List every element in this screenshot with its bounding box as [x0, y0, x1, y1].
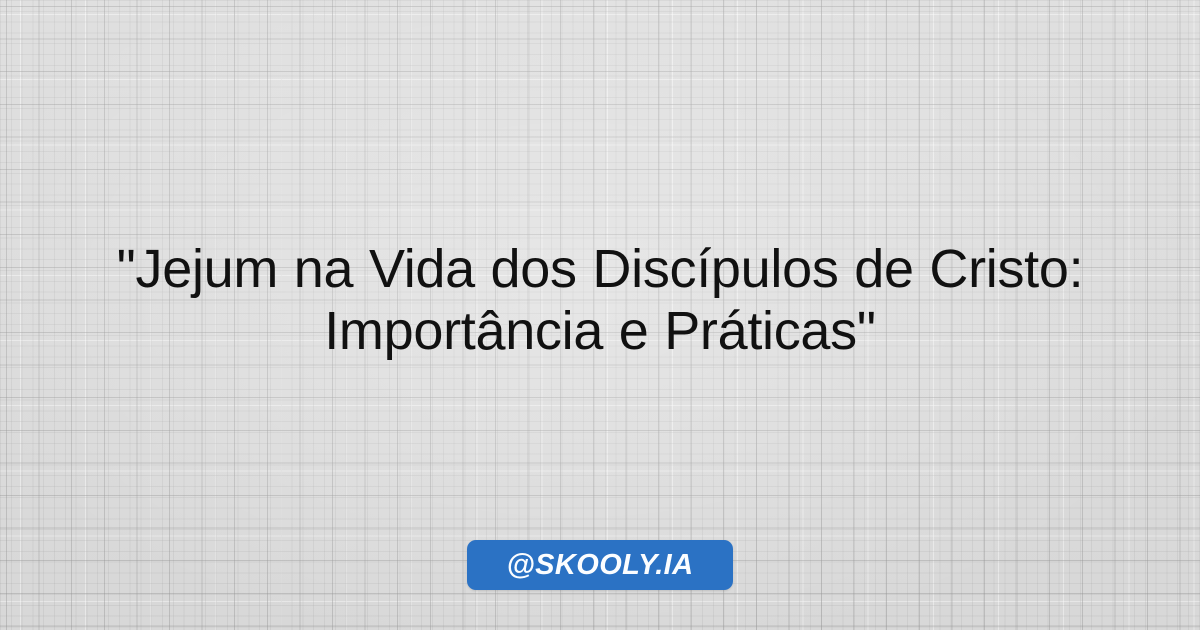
handle-badge[interactable]: @SKOOLY.IA — [467, 540, 733, 590]
handle-badge-label: @SKOOLY.IA — [507, 551, 694, 580]
page-title: "Jejum na Vida dos Discípulos de Cristo:… — [60, 238, 1140, 362]
title-container: "Jejum na Vida dos Discípulos de Cristo:… — [0, 238, 1200, 362]
paper-tint-overlay — [0, 0, 1200, 630]
grid-paper-background — [0, 0, 1200, 630]
social-share-card: "Jejum na Vida dos Discípulos de Cristo:… — [0, 0, 1200, 630]
badge-container: @SKOOLY.IA — [0, 540, 1200, 590]
